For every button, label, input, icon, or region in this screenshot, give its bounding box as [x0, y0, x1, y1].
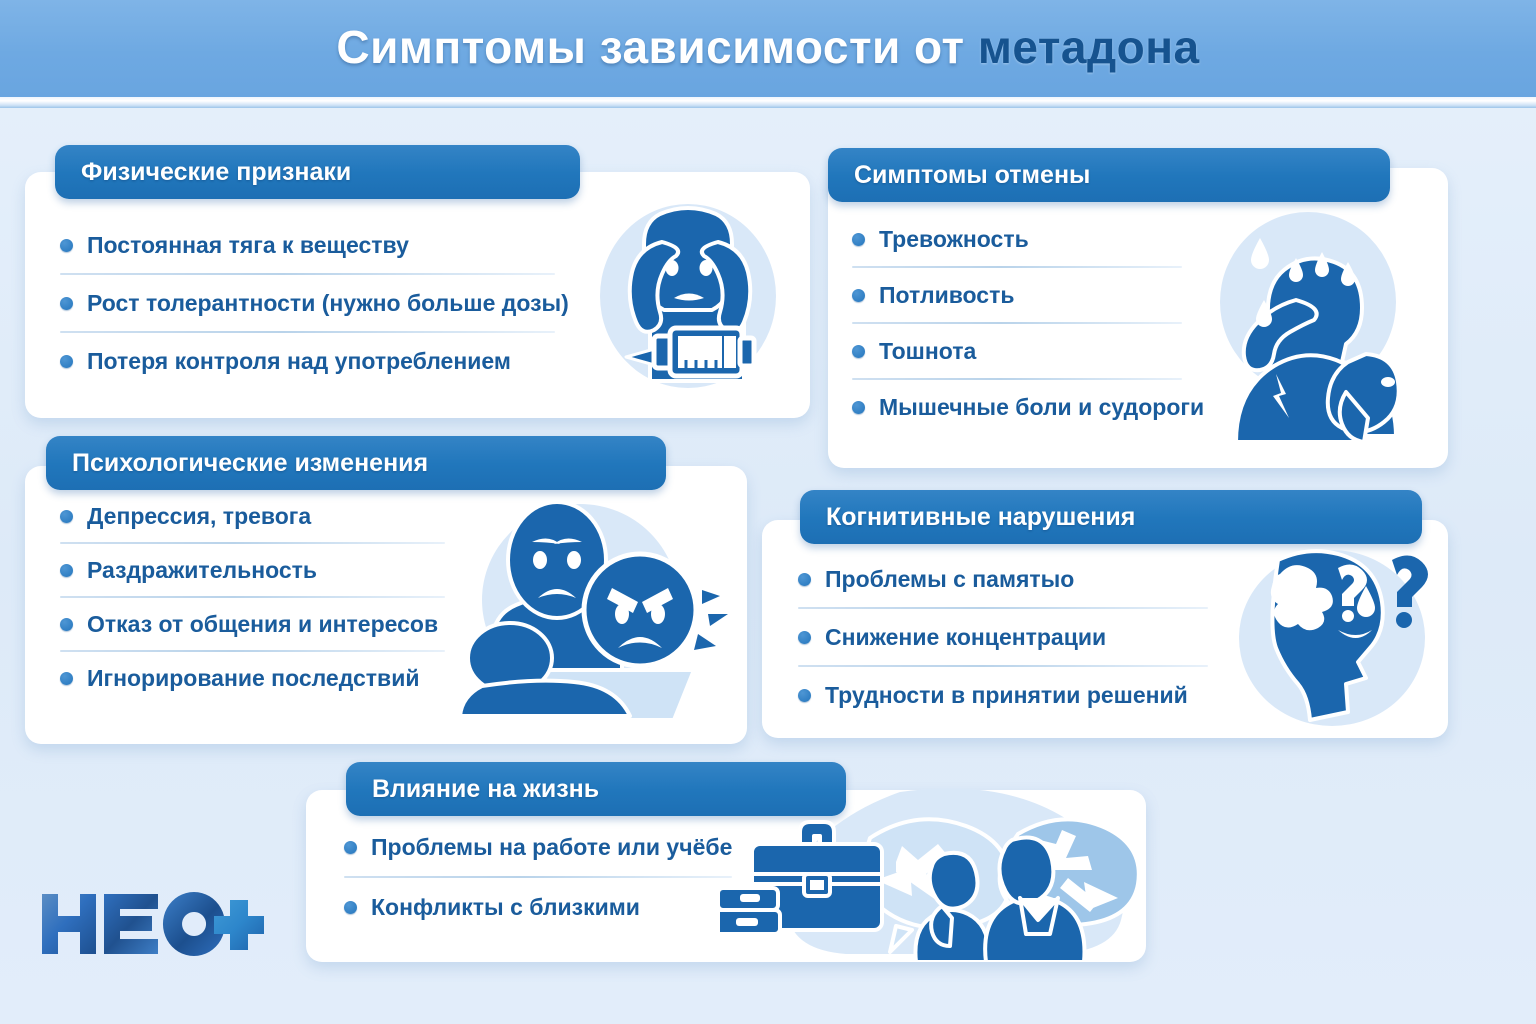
list-physical-signs: Постоянная тяга к веществу Рост толерант… [60, 228, 565, 378]
list-cognitive-impairment: Проблемы с памятыо Снижение концентрации… [798, 562, 1218, 712]
card-header-cognitive-impairment: Когнитивные нарушения [800, 490, 1422, 544]
bullet-dot-icon [60, 239, 73, 252]
bullet-dot-icon [852, 345, 865, 358]
divider [798, 665, 1208, 667]
bullet-dot-icon [852, 401, 865, 414]
bullet-dot-icon [852, 289, 865, 302]
bullet-dot-icon [852, 233, 865, 246]
briefcase-books-conflict-people-icon [720, 778, 1140, 962]
card-title-psychological-changes: Психологические изменения [72, 449, 428, 478]
page-title: Симптомы зависимости от метадона [0, 12, 1536, 82]
list-item-label: Потеря контроля над употреблением [87, 348, 511, 375]
bullet-dot-icon [60, 297, 73, 310]
bullet-dot-icon [60, 510, 73, 523]
page-title-main: Симптомы зависимости от [336, 21, 977, 73]
bullet-dot-icon [344, 901, 357, 914]
card-header-withdrawal-symptoms: Симптомы отмены [828, 148, 1390, 202]
list-item: Потливость [852, 278, 1212, 312]
infographic-page: Симптомы зависимости от метадона Физичес… [0, 0, 1536, 1024]
list-item: Рост толерантности (нужно больше дозы) [60, 286, 565, 320]
list-item: Раздражительность [60, 554, 460, 586]
card-title-life-impact: Влияние на жизнь [372, 775, 599, 804]
list-item: Снижение концентрации [798, 620, 1218, 654]
divider [60, 273, 555, 275]
sweating-person-with-cramps-icon [1198, 204, 1438, 444]
list-item: Проблемы с памятыо [798, 562, 1218, 596]
bullet-dot-icon [798, 631, 811, 644]
header-separator-strip [0, 97, 1536, 108]
list-item: Тошнота [852, 334, 1212, 368]
list-item: Мышечные боли и судороги [852, 390, 1212, 424]
page-title-accent: метадона [978, 21, 1200, 73]
card-title-withdrawal-symptoms: Симптомы отмены [854, 161, 1090, 190]
list-item-label: Снижение концентрации [825, 624, 1106, 651]
divider [60, 542, 445, 544]
list-item-label: Тошнота [879, 338, 976, 365]
list-item-label: Постоянная тяга к веществу [87, 232, 409, 259]
divider [60, 596, 445, 598]
list-item-label: Раздражительность [87, 557, 317, 584]
list-life-impact: Проблемы на работе или учёбе Конфликты с… [344, 830, 744, 924]
list-item: Конфликты с близкими [344, 890, 744, 924]
list-item: Трудности в принятии решений [798, 678, 1218, 712]
divider [60, 650, 445, 652]
divider [852, 266, 1182, 268]
list-item-label: Потливость [879, 282, 1015, 309]
list-item-label: Игнорирование последствий [87, 665, 419, 692]
divider [852, 322, 1182, 324]
bullet-dot-icon [60, 672, 73, 685]
list-item-label: Отказ от общения и интересов [87, 611, 438, 638]
card-title-physical-signs: Физические признаки [81, 158, 351, 187]
head-with-brain-question-marks-icon [1232, 546, 1432, 731]
divider [344, 876, 732, 878]
bullet-dot-icon [60, 618, 73, 631]
list-item-label: Конфликты с близкими [371, 894, 640, 921]
bullet-dot-icon [798, 573, 811, 586]
bullet-dot-icon [60, 564, 73, 577]
list-item: Проблемы на работе или учёбе [344, 830, 744, 864]
sad-and-angry-faces-icon [440, 490, 730, 725]
list-item-label: Трудности в принятии решений [825, 682, 1188, 709]
list-item: Депрессия, тревога [60, 500, 460, 532]
list-item-label: Проблемы на работе или учёбе [371, 834, 732, 861]
divider [60, 331, 555, 333]
divider [798, 607, 1208, 609]
stressed-person-with-syringe-icon [588, 196, 788, 396]
brand-logo [34, 886, 264, 962]
list-withdrawal-symptoms: Тревожность Потливость Тошнота Мышечные … [852, 222, 1212, 424]
card-header-psychological-changes: Психологические изменения [46, 436, 666, 490]
list-item: Игнорирование последствий [60, 662, 460, 694]
list-item-label: Тревожность [879, 226, 1029, 253]
list-item-label: Депрессия, тревога [87, 503, 311, 530]
list-psychological-changes: Депрессия, тревога Раздражительность Отк… [60, 500, 460, 694]
list-item: Потеря контроля над употреблением [60, 344, 565, 378]
bullet-dot-icon [344, 841, 357, 854]
bullet-dot-icon [60, 355, 73, 368]
bullet-dot-icon [798, 689, 811, 702]
card-header-physical-signs: Физические признаки [55, 145, 580, 199]
card-title-cognitive-impairment: Когнитивные нарушения [826, 503, 1135, 532]
list-item-label: Рост толерантности (нужно больше дозы) [87, 290, 569, 317]
divider [852, 378, 1182, 380]
list-item: Отказ от общения и интересов [60, 608, 460, 640]
list-item: Постоянная тяга к веществу [60, 228, 565, 262]
list-item-label: Проблемы с памятыо [825, 566, 1074, 593]
list-item-label: Мышечные боли и судороги [879, 394, 1204, 421]
list-item: Тревожность [852, 222, 1212, 256]
